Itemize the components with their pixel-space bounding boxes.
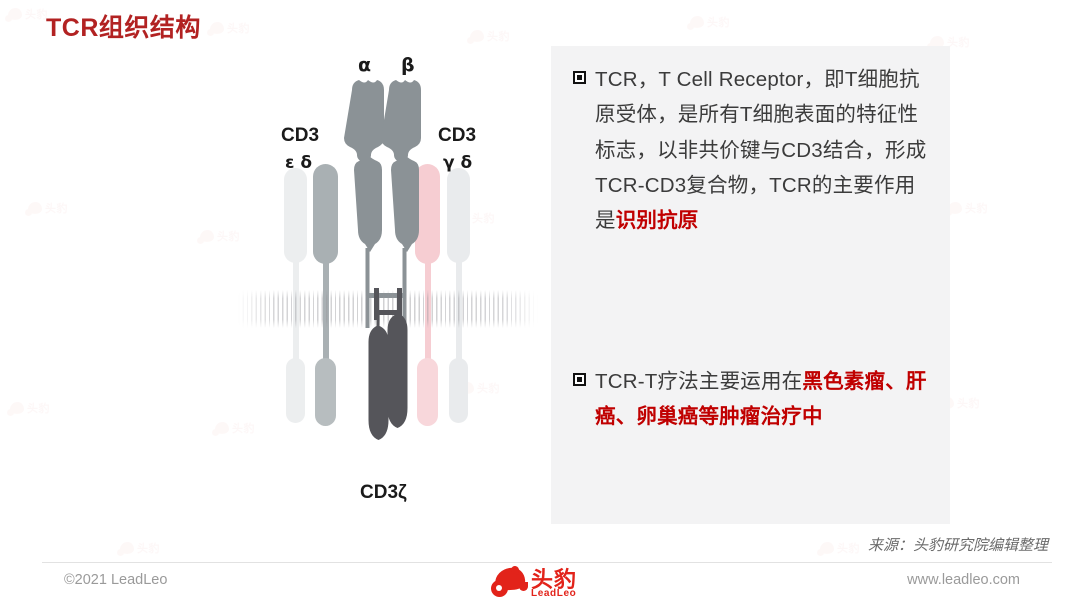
- leadleo-logo: 头豹 LeadLeo: [491, 562, 603, 606]
- watermark: 头豹: [948, 200, 988, 216]
- watermark-label: 头豹: [27, 400, 50, 416]
- slide-canvas: 头豹 头豹 头豹 头豹 头豹 头豹 头豹 头豹 头豹 头豹 头豹 头豹 头豹 头…: [0, 0, 1080, 608]
- website-url[interactable]: www.leadleo.com: [907, 572, 1020, 588]
- bullet-text-normal: TCR-T疗法主要运用在: [595, 370, 802, 393]
- watermark: 头豹: [690, 14, 730, 30]
- logo-english-text: LeadLeo: [531, 588, 576, 599]
- cd3-zeta-homodimer: [357, 288, 419, 480]
- alpha-variable-domain: [344, 80, 384, 163]
- alpha-constant-domain: [354, 155, 382, 252]
- bullet-text: TCR-T疗法主要运用在黑色素瘤、肝癌、卵巢癌等肿瘤治疗中: [595, 364, 931, 435]
- bullet-text-normal: TCR，T Cell Receptor，即T细胞抗原受体，是所有T细胞表面的特征…: [595, 68, 926, 232]
- label-beta-chain: β: [401, 54, 415, 76]
- square-bullet-icon: [573, 71, 586, 84]
- cd3-epsilon-tail-domain: [286, 358, 305, 423]
- zeta-right-domain: [388, 314, 408, 428]
- label-cd3-zeta: CD3ζ: [360, 482, 407, 504]
- description-panel: TCR，T Cell Receptor，即T细胞抗原受体，是所有T细胞表面的特征…: [551, 46, 950, 524]
- beta-constant-domain: [391, 155, 419, 252]
- beta-variable-domain: [381, 80, 421, 163]
- watermark-label: 头豹: [965, 200, 988, 216]
- watermark-leopard-icon: [10, 402, 24, 414]
- cd3-gamma-tail-domain: [417, 358, 438, 426]
- square-bullet-icon: [573, 373, 586, 386]
- watermark: 头豹: [8, 6, 48, 22]
- label-cd3-right: CD3: [438, 125, 476, 147]
- bullet-text: TCR，T Cell Receptor，即T细胞抗原受体，是所有T细胞表面的特征…: [595, 62, 931, 238]
- watermark-label: 头豹: [45, 200, 68, 216]
- cd3-epsilon-ecto-domain: [284, 168, 307, 263]
- watermark: 头豹: [28, 200, 68, 216]
- watermark: 头豹: [820, 540, 860, 556]
- watermark-label: 头豹: [957, 395, 980, 411]
- watermark: 头豹: [210, 20, 250, 36]
- bullet-item: TCR-T疗法主要运用在黑色素瘤、肝癌、卵巢癌等肿瘤治疗中: [573, 364, 931, 435]
- leopard-mark-icon: [491, 566, 527, 598]
- label-cd3-left: CD3: [281, 125, 319, 147]
- watermark-label: 头豹: [707, 14, 730, 30]
- watermark-leopard-icon: [8, 8, 22, 20]
- watermark-label: 头豹: [227, 20, 250, 36]
- watermark-label: 头豹: [137, 540, 160, 556]
- zeta-left-domain: [369, 314, 389, 440]
- label-alpha-chain: α: [358, 54, 371, 76]
- watermark-leopard-icon: [820, 542, 834, 554]
- watermark-leopard-icon: [948, 202, 962, 214]
- page-title: TCR组织结构: [46, 8, 201, 44]
- tcr-structure-diagram: α β CD3 ε δ CD3 γ δ CD3ζ: [200, 40, 550, 520]
- watermark: 头豹: [120, 540, 160, 556]
- watermark-leopard-icon: [28, 202, 42, 214]
- watermark-leopard-icon: [690, 16, 704, 28]
- copyright-text: ©2021 LeadLeo: [64, 572, 167, 588]
- watermark-label: 头豹: [25, 6, 48, 22]
- watermark-leopard-icon: [120, 542, 134, 554]
- cd3-delta-left-tail-domain: [315, 358, 336, 426]
- watermark-label: 头豹: [837, 540, 860, 556]
- bullet-item: TCR，T Cell Receptor，即T细胞抗原受体，是所有T细胞表面的特征…: [573, 62, 931, 238]
- bullet-text-highlight: 识别抗原: [616, 209, 699, 232]
- cd3-delta-left-ecto-domain: [313, 164, 338, 264]
- source-note: 来源：头豹研究院编辑整理: [868, 534, 1048, 555]
- watermark: 头豹: [10, 400, 50, 416]
- cd3-delta-right-ecto-domain: [447, 168, 470, 263]
- watermark-label: 头豹: [947, 34, 970, 50]
- cd3-delta-right-tail-domain: [449, 358, 468, 423]
- watermark-leopard-icon: [210, 22, 224, 34]
